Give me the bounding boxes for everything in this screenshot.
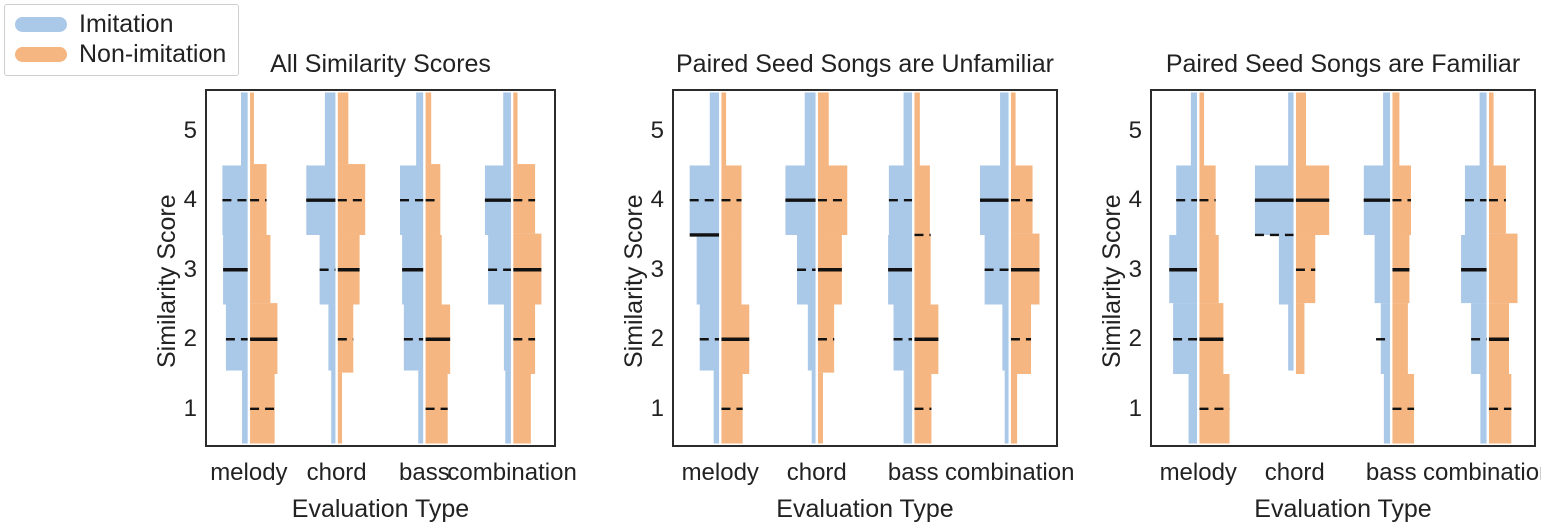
legend-swatch-imitation (15, 17, 67, 32)
violin-band-imitation (1189, 374, 1197, 444)
x-tick-label-combination: combination (1408, 459, 1541, 487)
violin-band-imitation (1375, 235, 1390, 303)
violin-band-non-imitation (1392, 92, 1399, 165)
violin-band-imitation (1383, 92, 1390, 165)
violin-band-imitation (1288, 304, 1293, 370)
violin-band-imitation (1384, 374, 1390, 444)
panel-3: Paired Seed Songs are Familiar12345Simil… (0, 0, 1541, 529)
violin-figure: Imitation Non-imitation All Similarity S… (0, 0, 1541, 529)
violin-band-non-imitation (1296, 303, 1304, 374)
violin-band-imitation (1480, 374, 1486, 444)
legend-swatch-non-imitation (15, 47, 67, 62)
violin-band-non-imitation (1392, 303, 1407, 374)
legend-entry-non-imitation: Non-imitation (15, 42, 226, 67)
violin-band-non-imitation (1489, 234, 1518, 304)
violin-band-non-imitation (1199, 235, 1218, 303)
violin-canvas (1152, 91, 1534, 445)
violin-band-non-imitation (1296, 92, 1306, 165)
x-axis-label: Evaluation Type (1150, 495, 1536, 524)
legend: Imitation Non-imitation (4, 4, 239, 76)
violin-band-non-imitation (1199, 92, 1204, 165)
violin-band-non-imitation (1489, 92, 1494, 165)
violin-band-imitation (1191, 92, 1197, 165)
legend-label-non-imitation: Non-imitation (79, 42, 226, 67)
violin-band-imitation (1288, 92, 1293, 165)
legend-entry-imitation: Imitation (15, 12, 226, 37)
violin-band-imitation (1279, 235, 1294, 305)
legend-label-imitation: Imitation (79, 12, 173, 37)
panel-title: Paired Seed Songs are Familiar (1150, 50, 1536, 79)
y-tick-label: 1 (1108, 395, 1142, 423)
y-tick-label: 5 (1108, 117, 1142, 145)
y-axis-label: Similarity Score (1098, 194, 1127, 368)
violin-band-imitation (1480, 92, 1487, 165)
